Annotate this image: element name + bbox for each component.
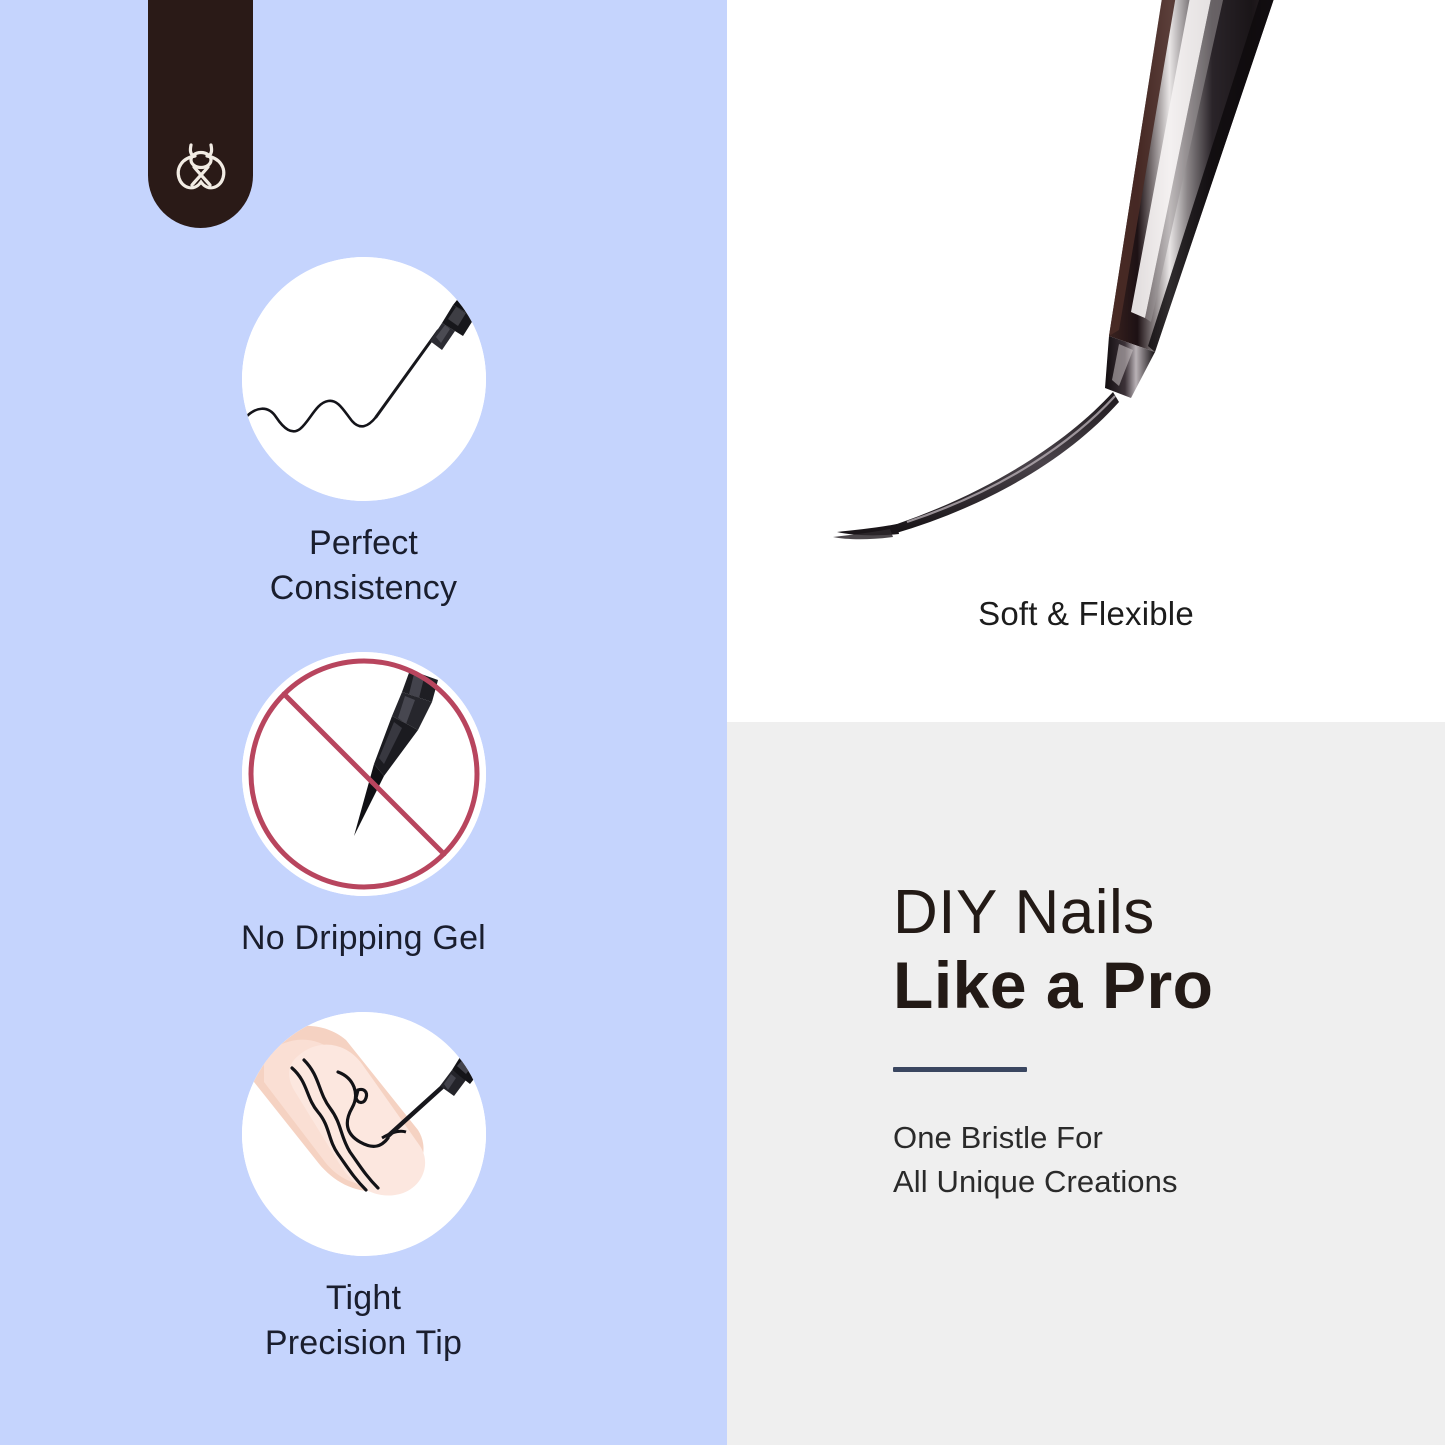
hero-caption: Soft & Flexible <box>727 595 1445 633</box>
marketing-block: DIY Nails Like a Pro One Bristle For All… <box>893 880 1413 1204</box>
product-infographic: Perfect Consistency <box>0 0 1445 1445</box>
prohibition-dripping-brush-icon <box>242 652 486 896</box>
interlocking-loops-bee-logo-icon <box>170 138 232 198</box>
brush-painting-nail-art-icon <box>242 1012 486 1256</box>
feature-label: No Dripping Gel <box>0 916 727 961</box>
brand-tab <box>148 0 253 228</box>
feature-no-dripping-gel: No Dripping Gel <box>0 652 727 961</box>
feature-label: Tight Precision Tip <box>0 1276 727 1366</box>
feature-perfect-consistency: Perfect Consistency <box>0 257 727 611</box>
flexible-nail-art-brush-photo <box>727 0 1445 600</box>
headline-light: DIY Nails <box>893 880 1413 945</box>
feature-tight-precision-tip: Tight Precision Tip <box>0 1012 727 1366</box>
accent-divider-rule <box>893 1067 1027 1072</box>
marketing-subtext: One Bristle For All Unique Creations <box>893 1116 1413 1204</box>
feature-icon-circle <box>242 257 486 501</box>
brush-drawing-smooth-wave-icon <box>242 257 486 501</box>
headline-bold: Like a Pro <box>893 949 1413 1023</box>
feature-icon-circle <box>242 1012 486 1256</box>
feature-label: Perfect Consistency <box>0 521 727 611</box>
feature-icon-circle <box>242 652 486 896</box>
